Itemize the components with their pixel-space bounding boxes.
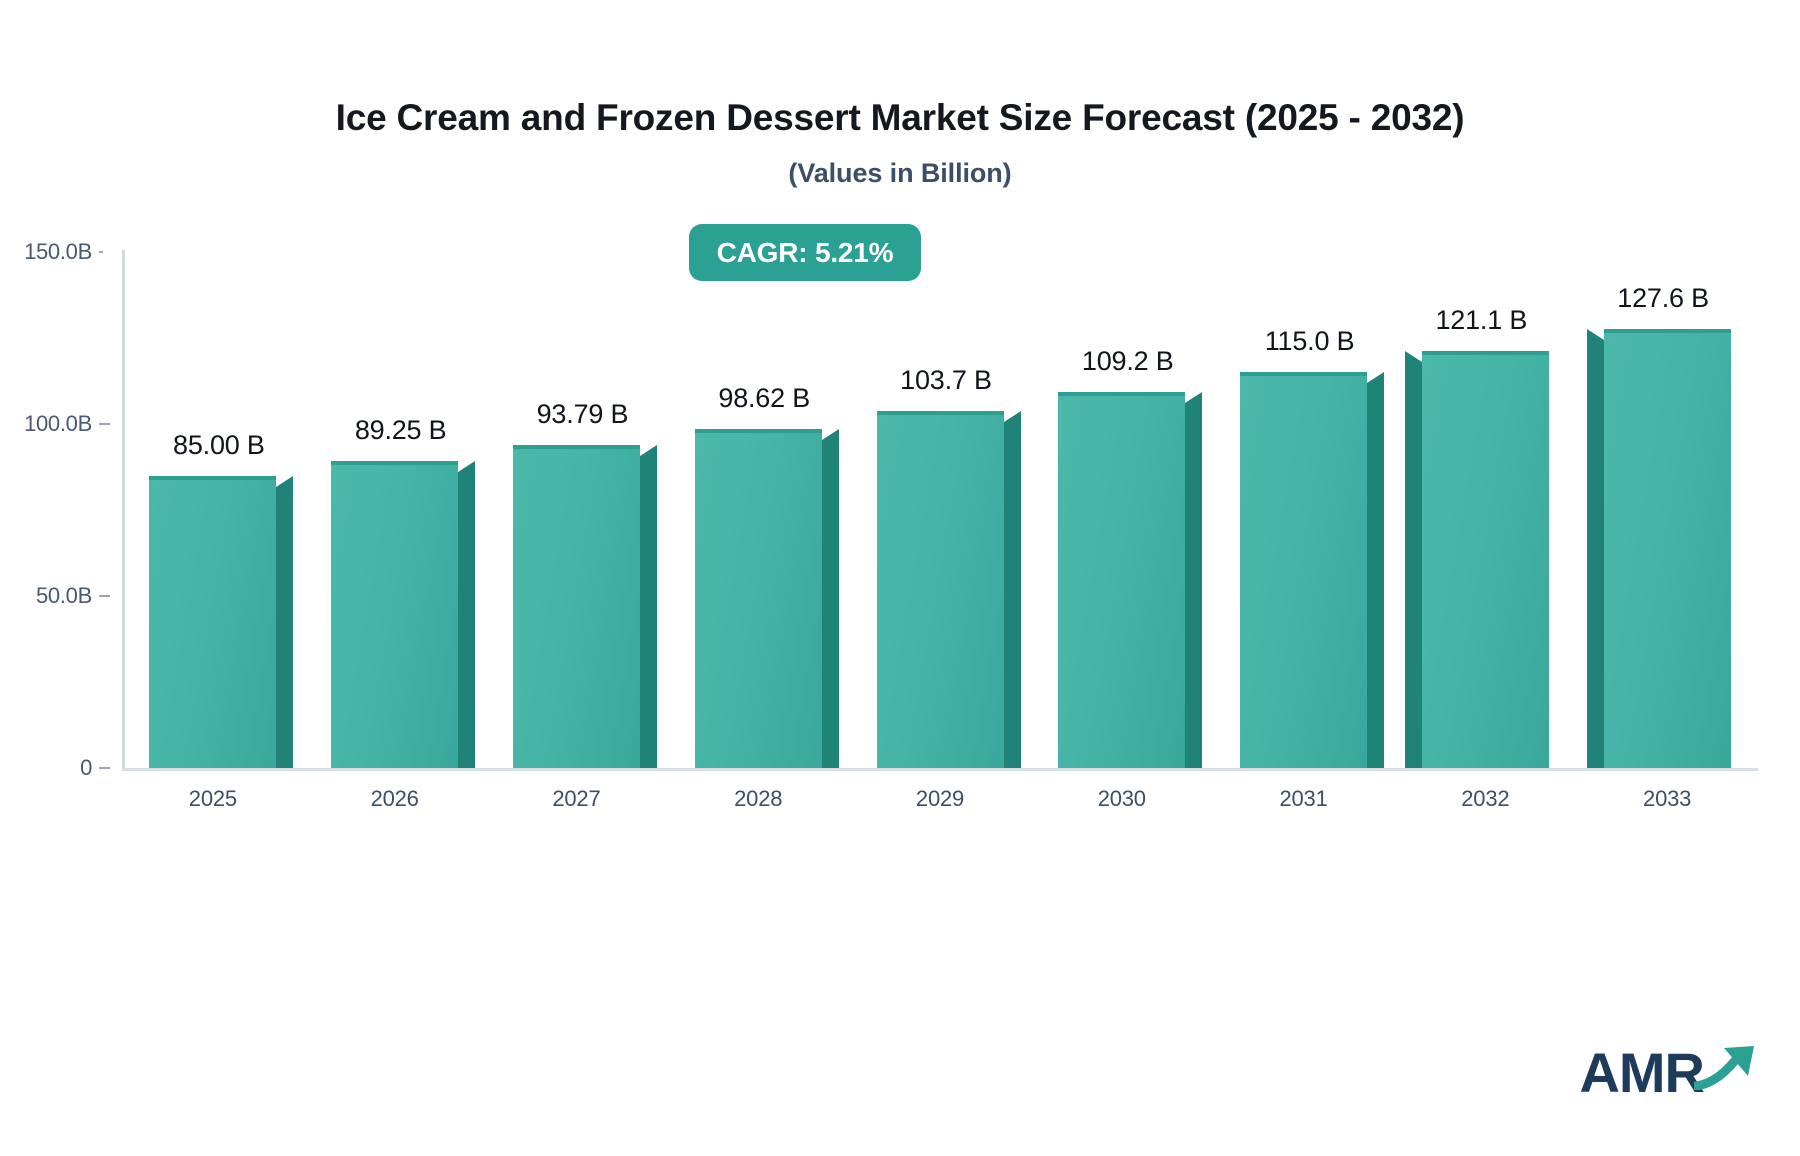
x-axis-line [122,768,1758,771]
y-axis-tick-label: 50.0B [0,583,92,609]
bar[interactable] [513,445,640,768]
y-axis-tick-mark [99,251,103,253]
bar-top-edge [695,429,822,433]
bar-side-face [458,472,475,768]
bar-side-face [822,440,839,768]
trend-up-arrow-icon [1694,1044,1758,1095]
bar-front-face [1604,329,1731,768]
bar-side-face [640,456,657,768]
bar-top-face [458,461,475,472]
amr-logo: AMR [1579,1044,1758,1101]
y-axis-tick-label: 100.0B [0,411,92,437]
bar-value-label: 85.00 B [173,430,265,461]
bar-value-label: 115.0 B [1265,326,1355,357]
bar-front-face [1058,392,1185,768]
bar-top-edge [331,461,458,465]
y-axis-tick-label: 0 [0,755,92,781]
bar-value-label: 103.7 B [900,365,992,396]
bar-top-face [276,476,293,487]
bar-top-face [1185,392,1202,403]
bar-value-label: 127.6 B [1617,283,1709,314]
bar-value-label: 121.1 B [1435,305,1527,336]
x-axis-tick-label: 2026 [325,786,465,812]
x-axis-tick-label: 2030 [1052,786,1192,812]
bar-side-face [1405,362,1422,768]
bar[interactable] [1422,351,1549,768]
bar-front-face [331,461,458,768]
bar-side-face [1367,383,1384,768]
bar-top-edge [877,411,1004,415]
x-axis-tick-label: 2028 [688,786,828,812]
bar-top-face [1367,372,1384,383]
x-axis-tick-label: 2031 [1234,786,1374,812]
bar-side-face [276,487,293,768]
bar-value-label: 109.2 B [1082,346,1174,377]
bar-top-face [1405,351,1422,362]
bar-top-edge [1058,392,1185,396]
x-axis-tick-label: 2027 [506,786,646,812]
x-axis-tick-label: 2029 [870,786,1010,812]
bar-front-face [877,411,1004,768]
bar-top-face [640,445,657,456]
bar[interactable] [331,461,458,768]
x-axis-tick-label: 2025 [143,786,283,812]
y-axis-line [122,250,125,770]
bar-top-edge [149,476,276,480]
bar-value-label: 93.79 B [537,399,629,430]
plot-area: 050.0B100.0B150.0B 85.00 B89.25 B93.79 B… [0,0,1800,1156]
bar[interactable] [1058,392,1185,768]
bar-side-face [1587,340,1604,768]
y-axis-tick-mark [99,595,110,597]
bar[interactable] [877,411,1004,768]
bar-front-face [1422,351,1549,768]
bar-top-edge [1422,351,1549,355]
bar-front-face [149,476,276,768]
bar-value-label: 98.62 B [718,383,810,414]
bar[interactable] [1604,329,1731,768]
bar-front-face [513,445,640,768]
y-axis-tick-mark [99,423,110,425]
y-axis-tick-mark [99,767,110,769]
y-axis-tick-label: 150.0B [0,239,92,265]
bar[interactable] [1240,372,1367,768]
bar-value-label: 89.25 B [355,415,447,446]
bar-side-face [1004,422,1021,768]
bar-top-face [1587,329,1604,340]
bar-front-face [695,429,822,768]
bar-top-face [1004,411,1021,422]
amr-logo-text: AMR [1579,1045,1704,1101]
bar[interactable] [695,429,822,768]
bar[interactable] [149,476,276,768]
bar-front-face [1240,372,1367,768]
bar-top-edge [513,445,640,449]
bar-side-face [1185,403,1202,768]
x-axis-tick-label: 2033 [1597,786,1737,812]
bar-top-edge [1604,329,1731,333]
x-axis-tick-label: 2032 [1415,786,1555,812]
bar-top-edge [1240,372,1367,376]
bar-top-face [822,429,839,440]
